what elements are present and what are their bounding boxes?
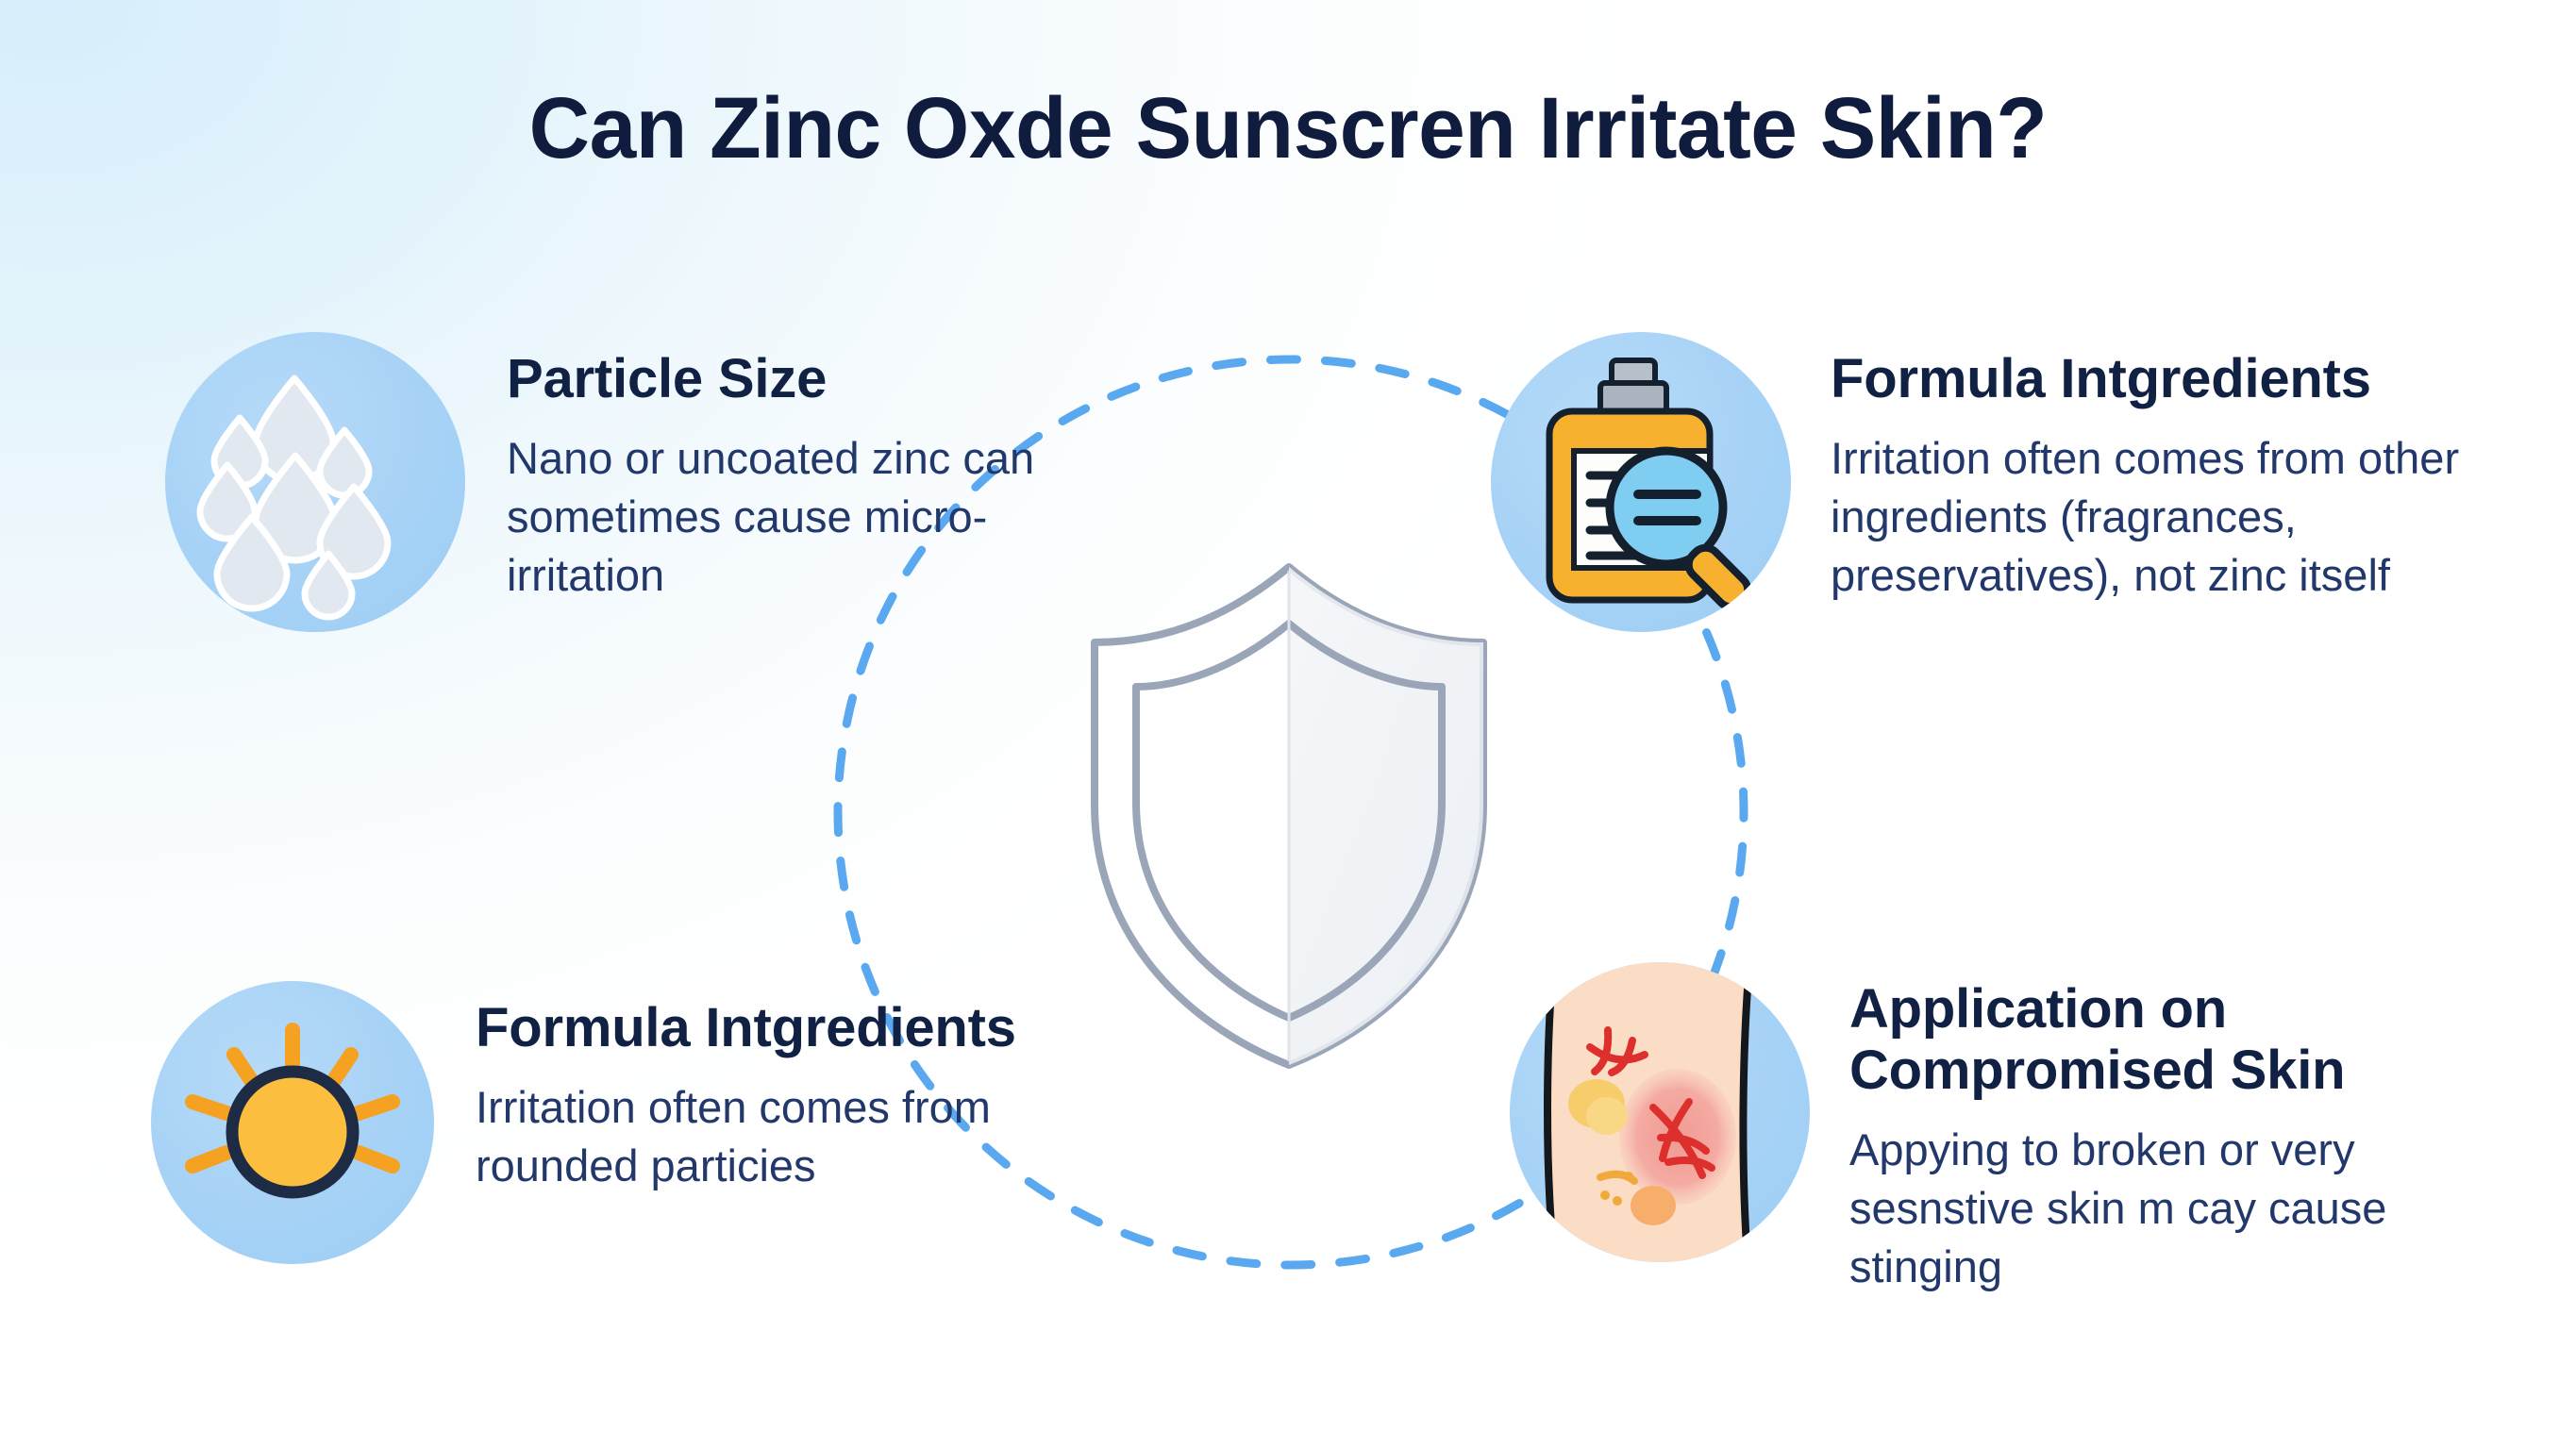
card-body: Irritation often comes from rounded part…: [476, 1078, 1136, 1195]
sun-icon: [151, 981, 434, 1264]
water-droplets-icon: [165, 332, 465, 632]
card-text-block: Particle Size Nano or uncoated zinc can …: [465, 332, 1184, 605]
card-title: Formula Intgredients: [1831, 349, 2557, 410]
bottle-magnifier-icon: [1491, 332, 1791, 632]
page-title: Can Zinc Oxde Sunscren Irritate Skin?: [39, 83, 2537, 175]
card-body: Appying to broken or very sesnstive skin…: [1849, 1121, 2529, 1296]
card-formula-ingredients-top: Formula Intgredients Irritation often co…: [1491, 332, 2557, 632]
card-text-block: Formula Intgredients Irritation often co…: [1791, 332, 2557, 605]
card-formula-ingredients-bottom: Formula Intgredients Irritation often co…: [151, 981, 1179, 1264]
card-application-compromised-skin: Application on Compromised Skin Appying …: [1510, 962, 2567, 1296]
card-title: Application on Compromised Skin: [1849, 979, 2529, 1102]
card-body: Nano or uncoated zinc can sometimes caus…: [507, 429, 1054, 605]
irritated-skin-icon: [1510, 962, 1810, 1262]
card-text-block: Formula Intgredients Irritation often co…: [434, 981, 1179, 1195]
card-particle-size: Particle Size Nano or uncoated zinc can …: [165, 332, 1184, 632]
card-body: Irritation often comes from other ingred…: [1831, 429, 2557, 605]
card-title: Formula Intgredients: [476, 998, 1179, 1059]
card-text-block: Application on Compromised Skin Appying …: [1810, 962, 2567, 1296]
card-title: Particle Size: [507, 349, 1184, 410]
infographic-canvas: Can Zinc Oxde Sunscren Irritate Skin?: [0, 0, 2576, 1448]
